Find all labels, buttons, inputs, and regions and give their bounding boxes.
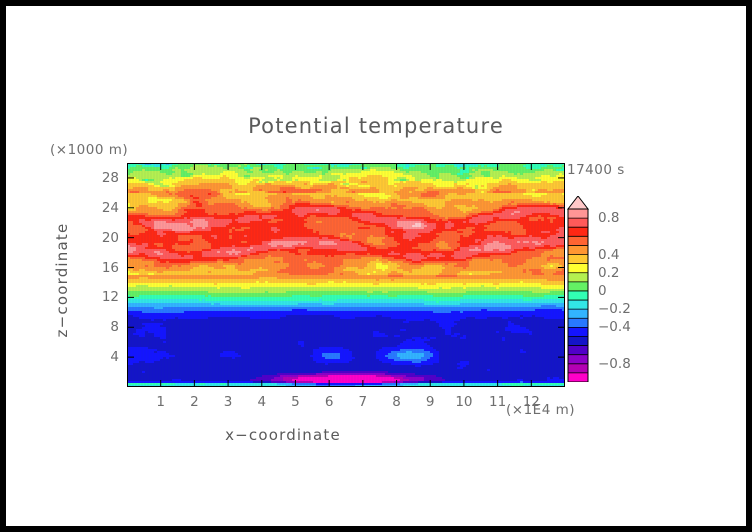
- x-tick-label: 4: [257, 394, 266, 410]
- y-axis-units-label: (×1000 m): [50, 142, 128, 158]
- x-tick-label: 6: [325, 394, 334, 410]
- colorbar-tick-label: −0.8: [598, 356, 631, 372]
- y-tick-label: 12: [91, 289, 119, 305]
- x-axis-units-label: (×1E4 m): [506, 402, 575, 418]
- colorbar-tick-label: 0.4: [598, 247, 619, 263]
- x-tick-label: 11: [489, 394, 506, 410]
- y-tick-label: 20: [91, 230, 119, 246]
- time-annotation: 17400 s: [567, 162, 625, 178]
- x-tick-label: 9: [426, 394, 435, 410]
- contour-plot: [127, 163, 565, 387]
- colorbar-tick-label: −0.4: [598, 319, 631, 335]
- y-tick-label: 28: [91, 170, 119, 186]
- colorbar-tick-label: −0.2: [598, 301, 631, 317]
- x-tick-label: 1: [156, 394, 165, 410]
- x-axis-title: x−coordinate: [6, 426, 560, 444]
- colorbar-tick-label: 0.8: [598, 210, 619, 226]
- x-tick-label: 10: [455, 394, 472, 410]
- y-axis-title: z−coordinate: [53, 180, 71, 380]
- x-tick-label: 7: [359, 394, 368, 410]
- x-tick-label: 3: [224, 394, 233, 410]
- colorbar-tick-label: 0: [598, 283, 607, 299]
- y-tick-label: 8: [91, 319, 119, 335]
- x-tick-label: 5: [291, 394, 300, 410]
- figure-canvas: Potential temperature (×1000 m) 17400 s …: [6, 6, 746, 526]
- page-title: Potential temperature: [6, 114, 746, 138]
- colorbar: [567, 196, 589, 382]
- x-tick-label: 8: [392, 394, 401, 410]
- y-tick-label: 24: [91, 200, 119, 216]
- x-tick-label: 2: [190, 394, 199, 410]
- y-tick-label: 4: [91, 349, 119, 365]
- y-tick-label: 16: [91, 260, 119, 276]
- colorbar-tick-label: 0.2: [598, 265, 619, 281]
